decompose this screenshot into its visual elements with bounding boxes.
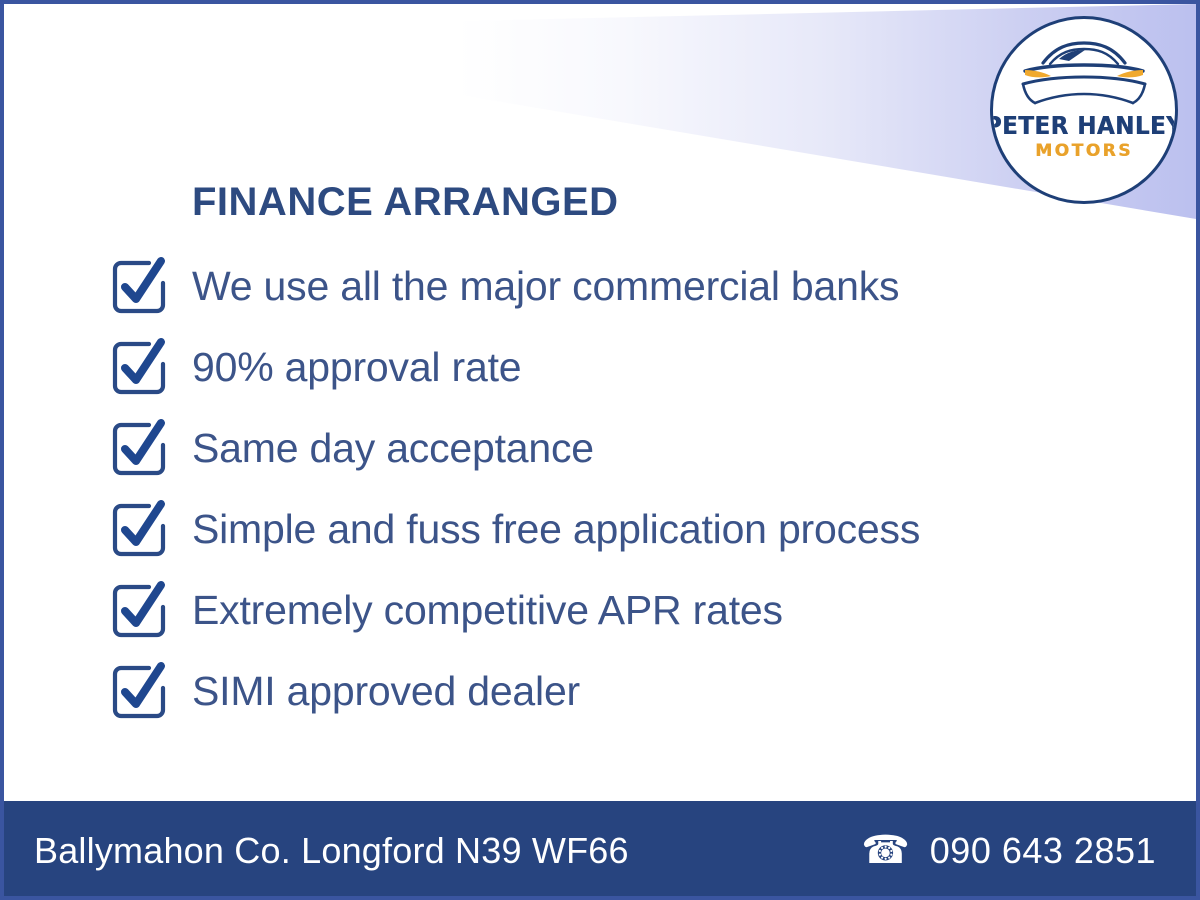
list-item-label: Same day acceptance xyxy=(192,428,594,469)
list-item: Extremely competitive APR rates xyxy=(108,570,1108,651)
address-text: Ballymahon Co. Longford N39 WF66 xyxy=(34,830,629,872)
benefits-list: We use all the major commercial banks 90… xyxy=(108,246,1108,732)
list-item: SIMI approved dealer xyxy=(108,651,1108,732)
phone-contact[interactable]: ☎ 090 643 2851 xyxy=(861,830,1156,872)
list-item-label: Extremely competitive APR rates xyxy=(192,590,783,631)
list-item-label: 90% approval rate xyxy=(192,347,521,388)
contact-footer-bar: Ballymahon Co. Longford N39 WF66 ☎ 090 6… xyxy=(0,801,1200,900)
checkbox-checked-icon xyxy=(108,337,170,399)
list-item: 90% approval rate xyxy=(108,327,1108,408)
list-item: Simple and fuss free application process xyxy=(108,489,1108,570)
list-item: We use all the major commercial banks xyxy=(108,246,1108,327)
car-front-icon xyxy=(1009,37,1159,111)
list-item-label: SIMI approved dealer xyxy=(192,671,580,712)
checkbox-checked-icon xyxy=(108,499,170,561)
list-item-label: We use all the major commercial banks xyxy=(192,266,899,307)
phone-number[interactable]: 090 643 2851 xyxy=(930,830,1156,872)
finance-poster: PETER HANLEY MOTORS FINANCE ARRANGED We … xyxy=(0,0,1200,900)
checkbox-checked-icon xyxy=(108,661,170,723)
checkbox-checked-icon xyxy=(108,256,170,318)
telephone-icon: ☎ xyxy=(861,831,910,870)
logo-brand-name: PETER HANLEY xyxy=(990,113,1178,138)
logo-brand-subtitle: MOTORS xyxy=(1035,143,1133,160)
list-item-label: Simple and fuss free application process xyxy=(192,509,920,550)
checkbox-checked-icon xyxy=(108,580,170,642)
page-title: FINANCE ARRANGED xyxy=(192,180,619,225)
dealership-logo: PETER HANLEY MOTORS xyxy=(990,16,1178,204)
list-item: Same day acceptance xyxy=(108,408,1108,489)
checkbox-checked-icon xyxy=(108,418,170,480)
